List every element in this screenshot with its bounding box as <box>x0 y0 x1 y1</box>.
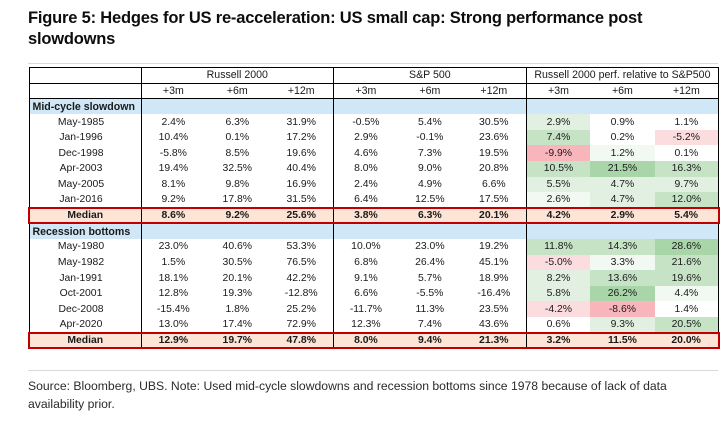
data-cell: 10.4% <box>141 130 205 146</box>
data-cell: 8.2% <box>526 270 590 286</box>
section-title: Recession bottoms <box>29 223 141 239</box>
data-cell: 19.6% <box>269 145 333 161</box>
data-cell: -0.5% <box>334 114 398 130</box>
data-cell: -5.0% <box>526 255 590 271</box>
data-cell: -5.8% <box>141 145 205 161</box>
data-cell: 6.8% <box>334 255 398 271</box>
data-cell: 17.5% <box>462 192 526 208</box>
column-header-+12m: +12m <box>269 83 333 99</box>
data-cell: 11.3% <box>398 301 462 317</box>
data-cell: 1.1% <box>655 114 719 130</box>
data-cell: -4.2% <box>526 301 590 317</box>
median-label: Median <box>29 333 141 349</box>
data-cell: 14.3% <box>590 239 654 255</box>
data-cell: 26.2% <box>590 286 654 302</box>
data-cell: 20.5% <box>655 317 719 333</box>
row-label: May-1982 <box>29 255 141 271</box>
data-cell: 1.5% <box>141 255 205 271</box>
section-filler-cell <box>590 99 654 115</box>
median-cell: 9.2% <box>205 208 269 224</box>
data-cell: 53.3% <box>269 239 333 255</box>
row-label: May-2005 <box>29 177 141 193</box>
source-divider <box>28 370 718 371</box>
median-cell: 12.9% <box>141 333 205 349</box>
data-cell: 43.6% <box>462 317 526 333</box>
table-body: Mid-cycle slowdownMay-19852.4%6.3%31.9%-… <box>29 99 719 349</box>
data-cell: 0.1% <box>655 145 719 161</box>
section-filler-cell <box>205 99 269 115</box>
median-cell: 3.2% <box>526 333 590 349</box>
median-cell: 8.6% <box>141 208 205 224</box>
section-filler-cell <box>205 223 269 239</box>
data-cell: 4.7% <box>590 177 654 193</box>
section-filler-cell <box>334 223 398 239</box>
section-filler-cell <box>462 223 526 239</box>
source-note: Source: Bloomberg, UBS. Note: Used mid-c… <box>28 378 722 413</box>
data-cell: 45.1% <box>462 255 526 271</box>
column-header-+12m: +12m <box>462 83 526 99</box>
data-cell: 17.4% <box>205 317 269 333</box>
data-cell: 19.5% <box>462 145 526 161</box>
data-cell: -11.7% <box>334 301 398 317</box>
data-cell: 40.6% <box>205 239 269 255</box>
data-cell: 5.8% <box>526 286 590 302</box>
section-filler-cell <box>462 99 526 115</box>
data-cell: 5.7% <box>398 270 462 286</box>
data-cell: 6.6% <box>334 286 398 302</box>
data-cell: 23.5% <box>462 301 526 317</box>
median-cell: 6.3% <box>398 208 462 224</box>
data-cell: 26.4% <box>398 255 462 271</box>
data-cell: 9.0% <box>398 161 462 177</box>
section-filler-cell <box>526 99 590 115</box>
section-filler-cell <box>269 223 333 239</box>
row-label: Jan-1996 <box>29 130 141 146</box>
data-cell: 8.0% <box>334 161 398 177</box>
figure-title: Figure 5: Hedges for US re-acceleration:… <box>28 8 718 50</box>
section-filler-cell <box>141 223 205 239</box>
data-cell: 23.6% <box>462 130 526 146</box>
table-row: Apr-200319.4%32.5%40.4%8.0%9.0%20.8%10.5… <box>29 161 719 177</box>
data-cell: 31.5% <box>269 192 333 208</box>
row-label: Jan-2016 <box>29 192 141 208</box>
median-cell: 9.4% <box>398 333 462 349</box>
section-header-row: Mid-cycle slowdown <box>29 99 719 115</box>
data-cell: 2.4% <box>141 114 205 130</box>
data-cell: 5.4% <box>398 114 462 130</box>
column-header-+12m: +12m <box>655 83 719 99</box>
data-cell: 2.6% <box>526 192 590 208</box>
median-label: Median <box>29 208 141 224</box>
data-cell: 6.4% <box>334 192 398 208</box>
data-cell: 76.5% <box>269 255 333 271</box>
data-cell: 9.8% <box>205 177 269 193</box>
data-table-container: Russell 2000S&P 500Russell 2000 perf. re… <box>28 67 718 349</box>
data-cell: 17.2% <box>269 130 333 146</box>
data-cell: 30.5% <box>205 255 269 271</box>
median-cell: 25.6% <box>269 208 333 224</box>
data-cell: 6.6% <box>462 177 526 193</box>
data-cell: 11.8% <box>526 239 590 255</box>
table-row: Dec-1998-5.8%8.5%19.6%4.6%7.3%19.5%-9.9%… <box>29 145 719 161</box>
figure-container: Figure 5: Hedges for US re-acceleration:… <box>0 0 725 424</box>
median-row: Median8.6%9.2%25.6%3.8%6.3%20.1%4.2%2.9%… <box>29 208 719 224</box>
column-group-header: Russell 2000 <box>141 68 334 84</box>
data-cell: -8.6% <box>590 301 654 317</box>
data-cell: 7.4% <box>526 130 590 146</box>
data-cell: 17.8% <box>205 192 269 208</box>
data-cell: 40.4% <box>269 161 333 177</box>
data-cell: -0.1% <box>398 130 462 146</box>
data-cell: 19.2% <box>462 239 526 255</box>
table-row: Jan-199610.4%0.1%17.2%2.9%-0.1%23.6%7.4%… <box>29 130 719 146</box>
row-label: Apr-2020 <box>29 317 141 333</box>
column-group-header: S&P 500 <box>334 68 527 84</box>
column-header-+3m: +3m <box>526 83 590 99</box>
data-cell: 9.7% <box>655 177 719 193</box>
data-cell: 21.5% <box>590 161 654 177</box>
data-cell: 7.4% <box>398 317 462 333</box>
data-cell: 23.0% <box>141 239 205 255</box>
section-title: Mid-cycle slowdown <box>29 99 141 115</box>
data-cell: 32.5% <box>205 161 269 177</box>
data-cell: 0.9% <box>590 114 654 130</box>
row-label: May-1985 <box>29 114 141 130</box>
data-cell: 0.1% <box>205 130 269 146</box>
section-filler-cell <box>655 223 719 239</box>
data-cell: 3.3% <box>590 255 654 271</box>
row-label: Dec-2008 <box>29 301 141 317</box>
data-cell: 1.8% <box>205 301 269 317</box>
section-filler-cell <box>590 223 654 239</box>
data-cell: 25.2% <box>269 301 333 317</box>
data-cell: -12.8% <box>269 286 333 302</box>
median-cell: 8.0% <box>334 333 398 349</box>
column-header-+6m: +6m <box>590 83 654 99</box>
data-cell: 2.4% <box>334 177 398 193</box>
table-row: Apr-202013.0%17.4%72.9%12.3%7.4%43.6%0.6… <box>29 317 719 333</box>
column-header-+6m: +6m <box>205 83 269 99</box>
data-cell: 12.3% <box>334 317 398 333</box>
column-header-+3m: +3m <box>334 83 398 99</box>
table-row: Jan-20169.2%17.8%31.5%6.4%12.5%17.5%2.6%… <box>29 192 719 208</box>
median-row: Median12.9%19.7%47.8%8.0%9.4%21.3%3.2%11… <box>29 333 719 349</box>
section-filler-cell <box>141 99 205 115</box>
data-cell: 10.5% <box>526 161 590 177</box>
column-group-header: Russell 2000 perf. relative to S&P500 <box>526 68 719 84</box>
section-header-row: Recession bottoms <box>29 223 719 239</box>
data-cell: 12.5% <box>398 192 462 208</box>
column-header-+3m: +3m <box>141 83 205 99</box>
data-cell: -16.4% <box>462 286 526 302</box>
row-label: Dec-1998 <box>29 145 141 161</box>
data-cell: 72.9% <box>269 317 333 333</box>
data-cell: -5.5% <box>398 286 462 302</box>
data-cell: 20.1% <box>205 270 269 286</box>
data-cell: 31.9% <box>269 114 333 130</box>
median-cell: 19.7% <box>205 333 269 349</box>
data-cell: 1.4% <box>655 301 719 317</box>
section-filler-cell <box>526 223 590 239</box>
data-cell: 19.3% <box>205 286 269 302</box>
data-cell: 18.9% <box>462 270 526 286</box>
section-filler-cell <box>269 99 333 115</box>
median-cell: 11.5% <box>590 333 654 349</box>
section-filler-cell <box>655 99 719 115</box>
section-filler-cell <box>398 223 462 239</box>
table-row: May-19852.4%6.3%31.9%-0.5%5.4%30.5%2.9%0… <box>29 114 719 130</box>
data-cell: 8.1% <box>141 177 205 193</box>
data-cell: 2.9% <box>526 114 590 130</box>
table-row: Dec-2008-15.4%1.8%25.2%-11.7%11.3%23.5%-… <box>29 301 719 317</box>
performance-table: Russell 2000S&P 500Russell 2000 perf. re… <box>28 67 720 349</box>
row-label: Jan-1991 <box>29 270 141 286</box>
data-cell: 4.6% <box>334 145 398 161</box>
data-cell: 9.1% <box>334 270 398 286</box>
table-row: May-19821.5%30.5%76.5%6.8%26.4%45.1%-5.0… <box>29 255 719 271</box>
data-cell: 12.0% <box>655 192 719 208</box>
data-cell: 19.4% <box>141 161 205 177</box>
table-header: Russell 2000S&P 500Russell 2000 perf. re… <box>29 68 719 99</box>
median-cell: 2.9% <box>590 208 654 224</box>
data-cell: 16.9% <box>269 177 333 193</box>
row-label: May-1980 <box>29 239 141 255</box>
row-label-header <box>29 83 141 99</box>
data-cell: -5.2% <box>655 130 719 146</box>
median-cell: 5.4% <box>655 208 719 224</box>
data-cell: 0.2% <box>590 130 654 146</box>
median-cell: 3.8% <box>334 208 398 224</box>
data-cell: 0.6% <box>526 317 590 333</box>
table-row: Oct-200112.8%19.3%-12.8%6.6%-5.5%-16.4%5… <box>29 286 719 302</box>
data-cell: 4.4% <box>655 286 719 302</box>
data-cell: -9.9% <box>526 145 590 161</box>
data-cell: 5.5% <box>526 177 590 193</box>
data-cell: 42.2% <box>269 270 333 286</box>
column-header-row: +3m+6m+12m+3m+6m+12m+3m+6m+12m <box>29 83 719 99</box>
data-cell: 4.7% <box>590 192 654 208</box>
data-cell: 4.9% <box>398 177 462 193</box>
data-cell: 7.3% <box>398 145 462 161</box>
title-divider <box>28 63 718 64</box>
data-cell: 21.6% <box>655 255 719 271</box>
data-cell: 1.2% <box>590 145 654 161</box>
data-cell: 2.9% <box>334 130 398 146</box>
median-cell: 20.1% <box>462 208 526 224</box>
data-cell: 13.0% <box>141 317 205 333</box>
table-row: Jan-199118.1%20.1%42.2%9.1%5.7%18.9%8.2%… <box>29 270 719 286</box>
median-cell: 21.3% <box>462 333 526 349</box>
data-cell: 28.6% <box>655 239 719 255</box>
median-cell: 20.0% <box>655 333 719 349</box>
data-cell: 18.1% <box>141 270 205 286</box>
data-cell: 10.0% <box>334 239 398 255</box>
data-cell: 16.3% <box>655 161 719 177</box>
section-filler-cell <box>398 99 462 115</box>
data-cell: -15.4% <box>141 301 205 317</box>
data-cell: 6.3% <box>205 114 269 130</box>
row-label: Apr-2003 <box>29 161 141 177</box>
table-row: May-20058.1%9.8%16.9%2.4%4.9%6.6%5.5%4.7… <box>29 177 719 193</box>
data-cell: 19.6% <box>655 270 719 286</box>
data-cell: 30.5% <box>462 114 526 130</box>
data-cell: 9.3% <box>590 317 654 333</box>
data-cell: 8.5% <box>205 145 269 161</box>
median-cell: 47.8% <box>269 333 333 349</box>
column-group-header-row: Russell 2000S&P 500Russell 2000 perf. re… <box>29 68 719 84</box>
data-cell: 20.8% <box>462 161 526 177</box>
data-cell: 9.2% <box>141 192 205 208</box>
corner-cell <box>29 68 141 84</box>
data-cell: 12.8% <box>141 286 205 302</box>
section-filler-cell <box>334 99 398 115</box>
median-cell: 4.2% <box>526 208 590 224</box>
data-cell: 13.6% <box>590 270 654 286</box>
row-label: Oct-2001 <box>29 286 141 302</box>
data-cell: 23.0% <box>398 239 462 255</box>
table-row: May-198023.0%40.6%53.3%10.0%23.0%19.2%11… <box>29 239 719 255</box>
column-header-+6m: +6m <box>398 83 462 99</box>
